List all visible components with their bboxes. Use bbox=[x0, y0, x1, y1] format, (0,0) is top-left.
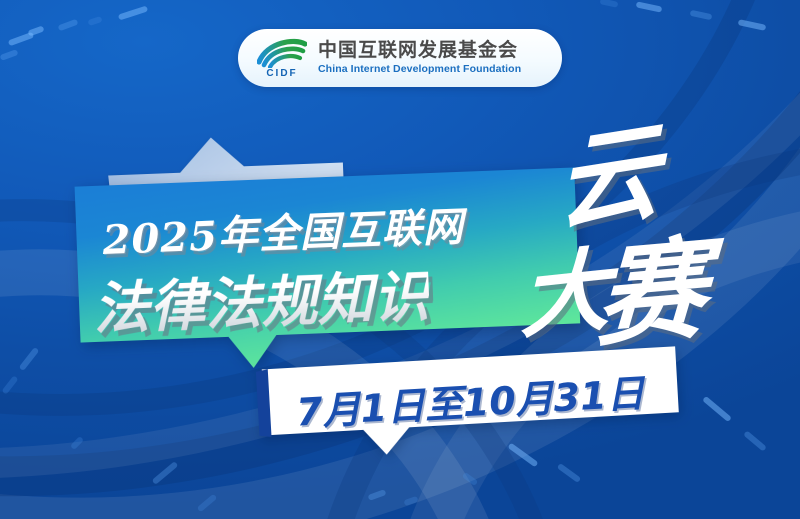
headline-line-2: 法律法规知识 bbox=[92, 252, 431, 346]
foundation-name-cn: 中国互联网发展基金会 bbox=[318, 40, 521, 62]
logo-text-block: 中国互联网发展基金会 China Internet Development Fo… bbox=[318, 40, 521, 77]
promo-poster: CIDF 中国互联网发展基金会 China Internet Developme… bbox=[0, 0, 800, 519]
foundation-logo-badge: CIDF 中国互联网发展基金会 China Internet Developme… bbox=[238, 29, 562, 87]
logo-abbreviation: CIDF bbox=[266, 69, 297, 79]
foundation-name-en: China Internet Development Foundation bbox=[318, 63, 521, 76]
date-range-text: 7月1日至10月31日 bbox=[294, 362, 645, 436]
headline-text-block: 2025年全国互联网 法律法规知识 bbox=[75, 167, 602, 375]
cidf-network-arc-icon: CIDF bbox=[254, 36, 310, 80]
